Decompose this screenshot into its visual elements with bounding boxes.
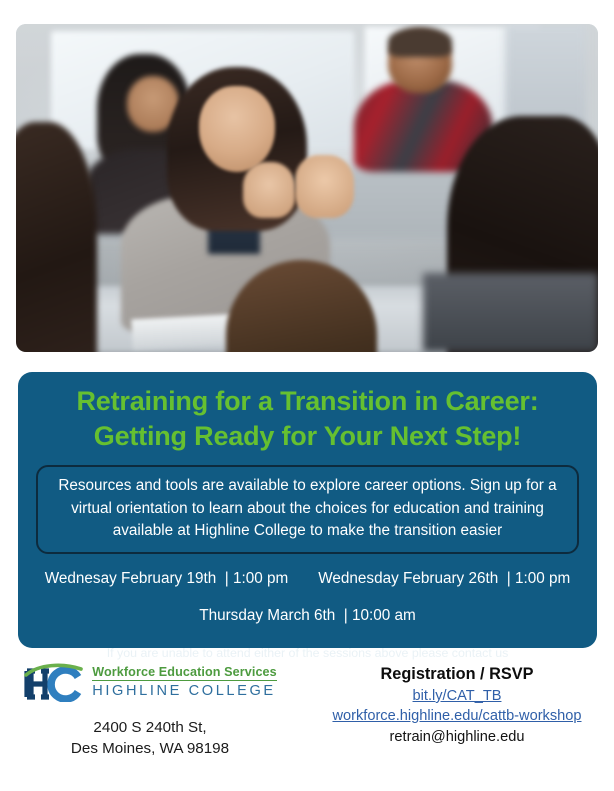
classroom-photo <box>16 24 598 352</box>
logo-program-line: Workforce Education Services <box>92 665 277 681</box>
registration-block: Registration / RSVP bit.ly/CAT_TB workfo… <box>300 665 614 748</box>
session-1-time: 1:00 pm <box>233 570 288 587</box>
photo-background <box>16 24 598 352</box>
session-item-3: Thursday March 6th | 10:00 am <box>199 605 416 628</box>
flyer-title-line-1: Retraining for a Transition in Career: <box>18 384 597 419</box>
session-3-time: 10:00 am <box>352 607 416 624</box>
photo-foreground-person-right-shoulder <box>423 273 598 352</box>
registration-short-link[interactable]: bit.ly/CAT_TB <box>300 687 614 707</box>
session-2-separator: | <box>507 570 511 587</box>
registration-full-link[interactable]: workforce.highline.edu/cattb-workshop <box>300 707 614 727</box>
flyer-footer: Workforce Education Services HIGHLINE CO… <box>0 662 614 782</box>
session-3-separator: | <box>344 607 348 624</box>
logo-wordmark: Workforce Education Services HIGHLINE CO… <box>92 662 277 701</box>
session-row-second: Thursday March 6th | 10:00 am <box>18 605 597 628</box>
address-line-1: 2400 S 240th St, <box>0 718 300 739</box>
session-dates: Wednesay February 19th | 1:00 pmWednesda… <box>18 568 597 628</box>
session-item-2: Wednesday February 26th | 1:00 pm <box>318 568 570 591</box>
session-item-1: Wednesay February 19th | 1:00 pm <box>45 568 289 591</box>
session-1-date: Wednesay February 19th <box>45 570 216 587</box>
registration-email[interactable]: retrain@highline.edu <box>300 728 614 748</box>
photo-person-background-man-hair <box>388 27 452 57</box>
session-2-date: Wednesday February 26th <box>318 570 498 587</box>
session-1-separator: | <box>225 570 229 587</box>
address-line-2: Des Moines, WA 98198 <box>0 739 300 760</box>
hc-monogram-icon <box>23 662 85 707</box>
photo-subject-face <box>199 86 275 171</box>
footer-left-column: Workforce Education Services HIGHLINE CO… <box>0 662 300 759</box>
description-box: Resources and tools are available to exp… <box>36 465 579 554</box>
college-address: 2400 S 240th St, Des Moines, WA 98198 <box>0 718 300 759</box>
photo-subject-right-hand <box>295 155 353 217</box>
photo-foreground-person-left <box>16 122 97 352</box>
logo-college-line: HIGHLINE COLLEGE <box>92 681 277 701</box>
description-text: Resources and tools are available to exp… <box>50 475 565 543</box>
info-panel: Retraining for a Transition in Career: G… <box>18 372 597 648</box>
session-2-time: 1:00 pm <box>515 570 570 587</box>
session-3-date: Thursday March 6th <box>199 607 335 624</box>
flyer-title: Retraining for a Transition in Career: G… <box>18 372 597 453</box>
registration-heading: Registration / RSVP <box>300 665 614 684</box>
contact-note: If you are unable to attend either of th… <box>18 646 597 660</box>
session-row-first: Wednesay February 19th | 1:00 pmWednesda… <box>18 568 597 591</box>
highline-college-logo: Workforce Education Services HIGHLINE CO… <box>0 662 300 707</box>
photo-subject-left-hand <box>243 162 295 218</box>
flyer-title-line-2: Getting Ready for Your Next Step! <box>18 419 597 454</box>
